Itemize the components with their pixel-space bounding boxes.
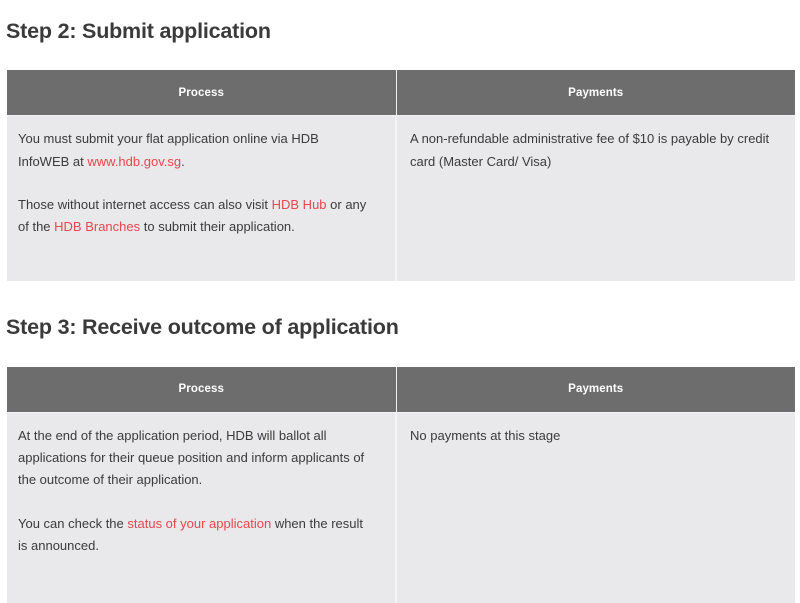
cell-process-step-3: At the end of the application period, HD… [7, 412, 396, 603]
process-paragraph-1: At the end of the application period, HD… [18, 425, 373, 492]
step-3-table-body: At the end of the application period, HD… [7, 412, 795, 603]
page-title-step-3: Step 3: Receive outcome of application [0, 316, 800, 340]
process-paragraph-2: You can check the status of your applica… [18, 513, 373, 558]
process-paragraph-2: Those without internet access can also v… [18, 194, 373, 239]
step-2-table-head: Process Payments [7, 70, 795, 116]
process-p2-text-before: Those without internet access can also v… [18, 197, 272, 212]
column-header-payments: Payments [396, 367, 795, 413]
cell-payments-step-3: No payments at this stage [396, 412, 795, 603]
step-2-table: Process Payments You must submit your fl… [7, 70, 795, 281]
heading-table-spacer [0, 61, 800, 70]
column-header-process: Process [7, 70, 396, 116]
process-paragraph-1: You must submit your flat application on… [18, 128, 373, 173]
heading-table-spacer-2 [0, 358, 800, 367]
cell-process-step-2: You must submit your flat application on… [7, 116, 396, 282]
process-p1-text-after: . [181, 154, 185, 169]
document-page: Step 2: Submit application Process Payme… [0, 0, 800, 487]
table-row: You must submit your flat application on… [7, 116, 795, 282]
table-header-row: Process Payments [7, 367, 795, 413]
link-hdb-infoweb[interactable]: www.hdb.gov.sg [87, 154, 181, 169]
payments-paragraph-1: No payments at this stage [410, 425, 779, 447]
table-header-row: Process Payments [7, 70, 795, 116]
link-hdb-branches[interactable]: HDB Branches [54, 219, 140, 234]
link-status-of-your-application[interactable]: status of your application [127, 516, 271, 531]
process-p2-text-after: to submit their application. [140, 219, 295, 234]
payments-paragraph-1: A non-refundable administrative fee of $… [410, 128, 779, 173]
step-3-table: Process Payments At the end of the appli… [7, 367, 795, 603]
step-3-table-head: Process Payments [7, 367, 795, 413]
cell-payments-step-2: A non-refundable administrative fee of $… [396, 116, 795, 282]
section-spacer [0, 281, 800, 298]
step-2-table-body: You must submit your flat application on… [7, 116, 795, 282]
link-hdb-hub[interactable]: HDB Hub [272, 197, 327, 212]
process-p2-text-before: You can check the [18, 516, 127, 531]
table-row: At the end of the application period, HD… [7, 412, 795, 603]
page-title-step-2: Step 2: Submit application [0, 20, 800, 44]
column-header-process: Process [7, 367, 396, 413]
column-header-payments: Payments [396, 70, 795, 116]
top-spacer [0, 0, 800, 2]
